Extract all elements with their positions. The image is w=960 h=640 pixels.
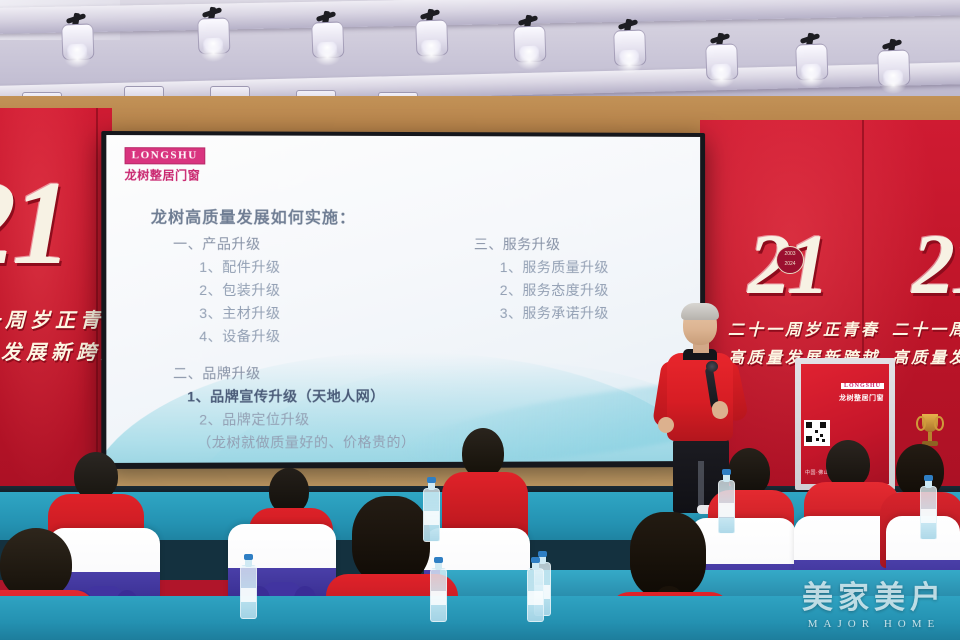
stage-lamp (877, 49, 909, 96)
speaker-red-polo (667, 353, 733, 441)
slide-section-heading: 一、产品升级 (173, 234, 454, 254)
slide-section-item: 4、设备升级 (199, 326, 454, 346)
stage-lamp (415, 19, 447, 66)
slide-section: 二、品牌升级 1、品牌宣传升级（天地人网） 2、品牌定位升级 （龙树就做质量好的… (173, 363, 454, 453)
badge-year-top: 2003 (777, 251, 803, 257)
backdrop-line2-right2: 高质量发展新跨越 (892, 344, 960, 368)
water-bottle (920, 486, 937, 540)
slide-section-item: 1、服务质量升级 (500, 257, 692, 277)
watermark-en: MAJOR HOME (802, 618, 946, 630)
slide-section-item-emphasized: 1、品牌宣传升级（天地人网） (187, 386, 454, 407)
standee-logo: LONGSHU 龙树整居门窗 (839, 374, 884, 403)
slide-logo-en: LONGSHU (125, 147, 205, 164)
slide-section-heading: 三、服务升级 (474, 234, 692, 254)
slide-section-note: （龙树就做质量好的、价格贵的） (197, 432, 454, 453)
water-bottle (527, 568, 544, 622)
slide-logo: LONGSHU 龙树整居门窗 (125, 145, 205, 183)
stage-lamp (61, 23, 93, 70)
backdrop-line1-right2: 二十一周岁正青春 (892, 316, 960, 340)
slide-section-item: 2、服务态度升级 (500, 280, 692, 300)
stage-lamp (613, 29, 645, 76)
slide-section-heading: 二、品牌升级 (173, 363, 454, 383)
slide-section-item: 1、配件升级 (199, 257, 454, 277)
projection-screen: LONGSHU 龙树整居门窗 龙树高质量发展如何实施： 一、产品升级 1、配件升… (106, 135, 700, 463)
trophy (922, 414, 938, 446)
backdrop-line1-right: 二十一周岁正青春 (728, 316, 880, 340)
stage-lamp (795, 43, 827, 90)
water-bottle (240, 565, 257, 619)
standee-logo-en: LONGSHU (841, 383, 884, 389)
stage-lamp (197, 17, 229, 64)
anniversary-number-left: 21 (0, 154, 68, 292)
anniversary-badge: 2003 2024 (776, 246, 804, 274)
slide-logo-cn: 龙树整居门窗 (125, 166, 205, 183)
slide-section-item: 2、包装升级 (199, 280, 454, 300)
photo-scene: 21 二十一周岁正青春 高质量发展新跨越 21 2003 2024 21 二十一… (0, 0, 960, 640)
stage-lamp (311, 21, 343, 68)
watermark: 美家美户 MAJOR HOME (802, 572, 946, 630)
water-bottle (423, 488, 440, 542)
standee-logo-cn: 龙树整居门窗 (839, 393, 884, 403)
anniversary-number-right2: 21 (912, 214, 960, 314)
stage-lamp (705, 43, 737, 90)
slide-section-item: 2、品牌定位升级 (199, 409, 454, 430)
badge-year-bottom: 2024 (777, 261, 803, 267)
slide-section: 一、产品升级 1、配件升级 2、包装升级 3、主材升级 4、设备升级 (173, 234, 454, 347)
projection-screen-frame: LONGSHU 龙树整居门窗 龙树高质量发展如何实施： 一、产品升级 1、配件升… (101, 131, 705, 469)
watermark-cn: 美家美户 (802, 572, 946, 617)
qr-code (804, 420, 830, 446)
stage-lamp (513, 25, 545, 72)
water-bottle (718, 480, 735, 534)
slide-column-left: 一、产品升级 1、配件升级 2、包装升级 3、主材升级 4、设备升级 二、品牌升… (173, 234, 454, 463)
slide-title: 龙树高质量发展如何实施： (151, 204, 356, 228)
water-bottle (430, 568, 447, 622)
slide-section-item: 3、主材升级 (199, 303, 454, 323)
